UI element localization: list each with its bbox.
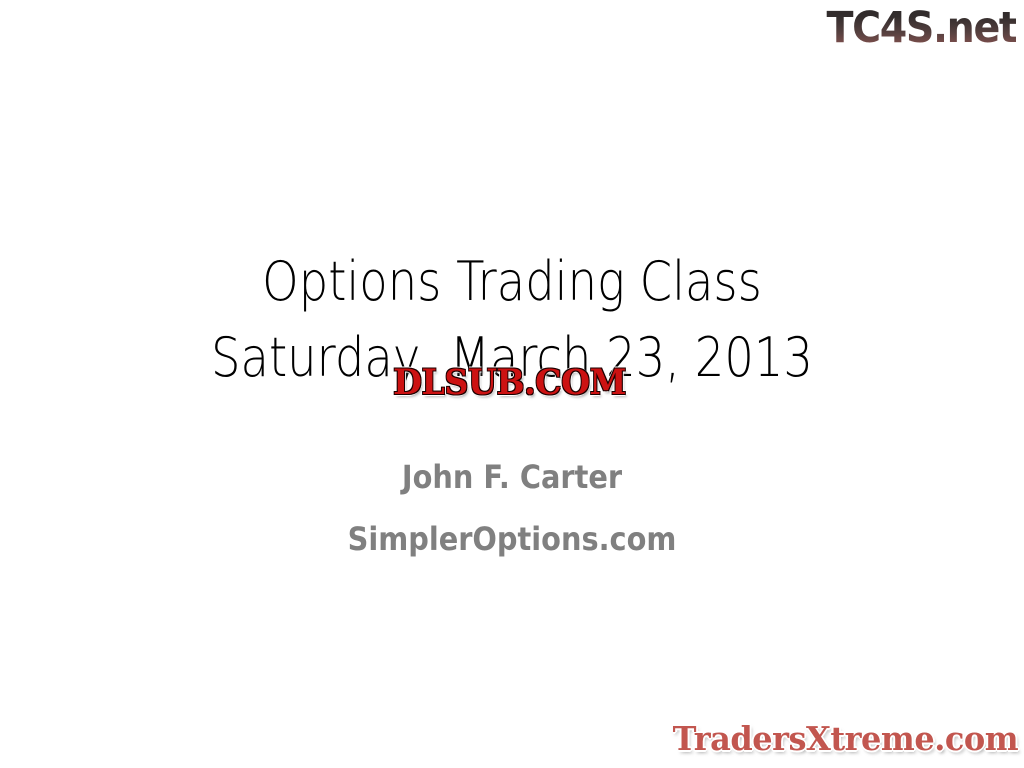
subtitle-website: SimplerOptions.com bbox=[51, 508, 973, 570]
title-line-1: Options Trading Class bbox=[72, 244, 953, 320]
tradersxtreme-com-logo: TradersXtreme.com bbox=[673, 718, 1018, 760]
subtitle-presenter-name: John F. Carter bbox=[51, 446, 973, 508]
watermark-text: DLSUB.COM bbox=[394, 363, 627, 403]
dlsub-watermark: DLSUB.COM bbox=[364, 360, 656, 406]
tc4s-net-logo: TC4S.net bbox=[826, 2, 1016, 54]
slide-subtitle: John F. Carter SimplerOptions.com bbox=[0, 446, 1024, 570]
slide-canvas: TC4S.net Options Trading Class Saturday,… bbox=[0, 0, 1024, 768]
